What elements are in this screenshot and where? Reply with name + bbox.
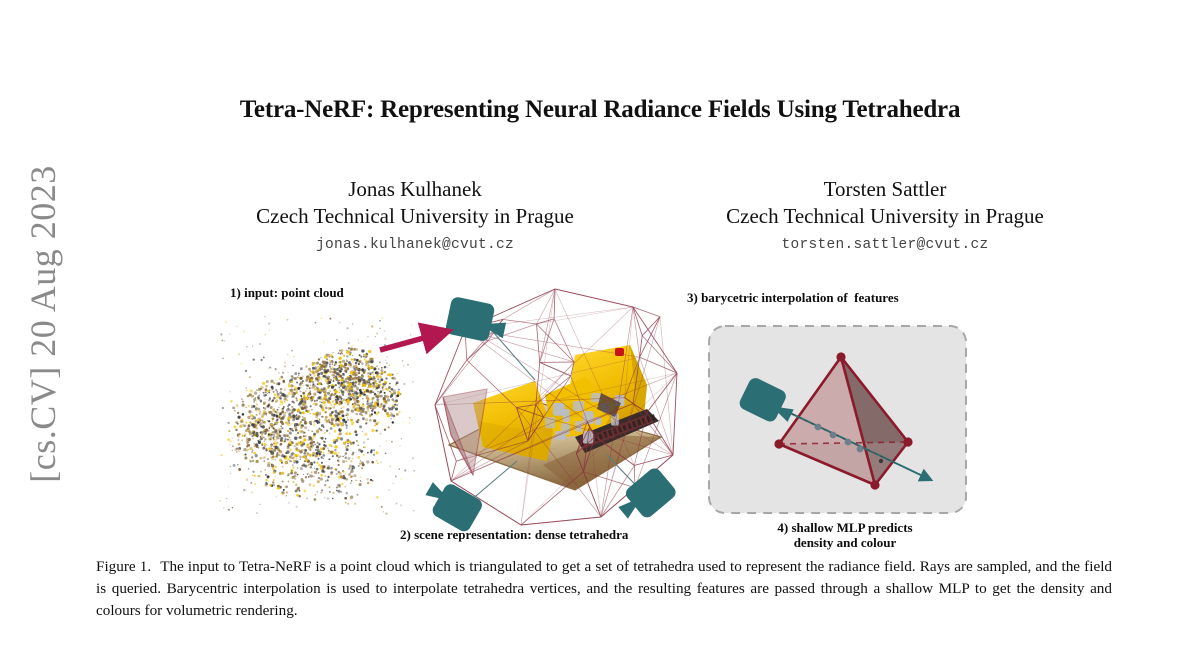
caption-lead: Figure 1. — [96, 558, 151, 575]
page-title: Tetra-NeRF: Representing Neural Radiance… — [0, 96, 1200, 124]
author-email[interactable]: jonas.kulhanek@cvut.cz — [180, 236, 650, 255]
arxiv-stamp-text: [cs.CV] 20 Aug 2023 — [22, 165, 64, 483]
figure-step3-label: 3) barycetric interpolation of features — [687, 290, 899, 305]
author-name: Torsten Sattler — [650, 176, 1120, 203]
figure-step4-label: 4) shallow MLP predicts density and colo… — [745, 520, 945, 551]
author-list: Jonas Kulhanek Czech Technical Universit… — [180, 176, 1120, 254]
figure-step1-label: 1) input: point cloud — [230, 285, 344, 300]
barycentric-interpolation-panel — [705, 322, 970, 517]
author-block-2: Torsten Sattler Czech Technical Universi… — [650, 176, 1120, 254]
author-affiliation: Czech Technical University in Prague — [650, 203, 1120, 230]
author-block-1: Jonas Kulhanek Czech Technical Universit… — [180, 176, 650, 254]
author-affiliation: Czech Technical University in Prague — [180, 203, 650, 230]
author-name: Jonas Kulhanek — [180, 176, 650, 203]
author-email[interactable]: torsten.sattler@cvut.cz — [650, 236, 1120, 255]
caption-body: The input to Tetra-NeRF is a point cloud… — [96, 558, 1112, 619]
pipeline-arrow-icon — [380, 322, 460, 362]
tetrahedra-scene-panel — [425, 285, 690, 535]
figure-1: 1) input: point cloud 2) scene represent… — [200, 280, 1000, 550]
figure-caption: Figure 1.The input to Tetra-NeRF is a po… — [96, 556, 1112, 622]
